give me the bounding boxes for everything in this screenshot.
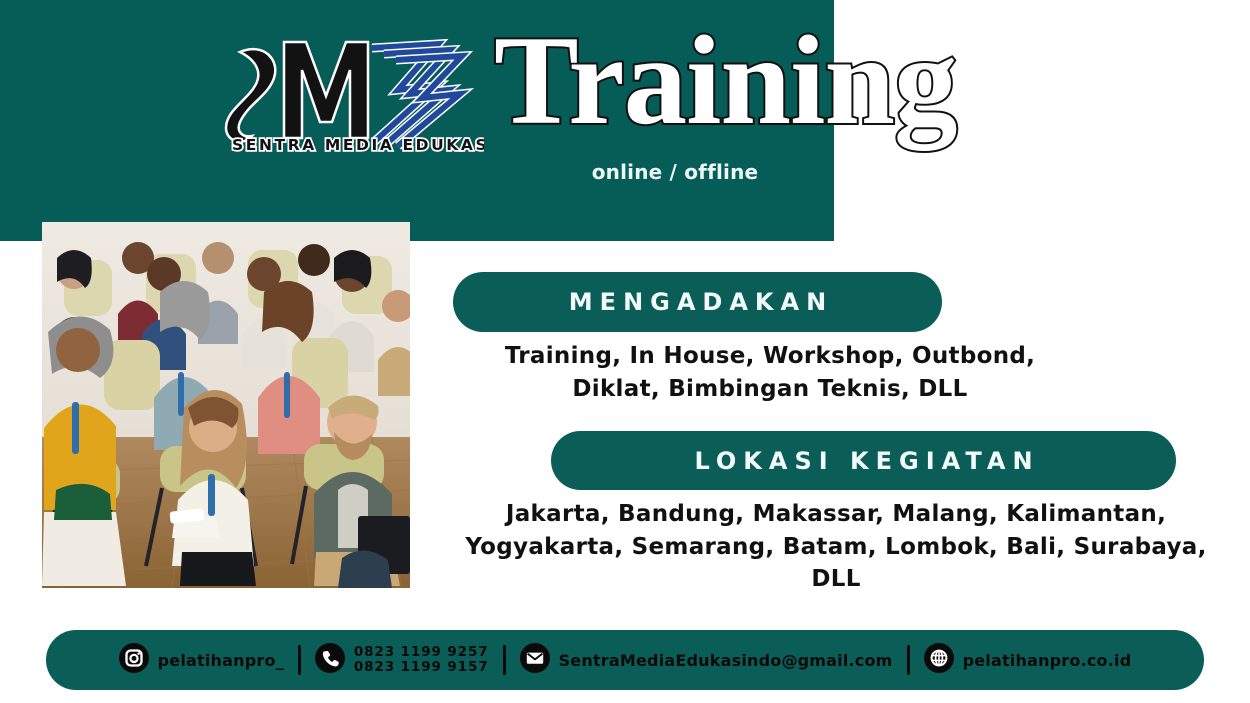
page-subtitle: online / offline [494,160,856,184]
website-url: pelatihanpro.co.id [963,651,1132,670]
section-heading-label: LOKASI KEGIATAN [687,447,1039,475]
contact-instagram[interactable]: pelatihanpro_ [119,643,284,677]
brand-logo: SENTRA MEDIA EDUKASINDO [222,30,484,155]
globe-icon [924,643,954,677]
seminar-audience-photo [42,222,410,588]
envelope-icon [520,643,550,677]
footer-contact-bar: pelatihanpro_ 0823 1199 9257 0823 1199 9… [46,630,1204,690]
contact-website[interactable]: pelatihanpro.co.id [924,643,1132,677]
section-body-line: Diklat, Bimbingan Teknis, DLL [420,373,1120,406]
footer-divider [298,645,301,675]
logo-tagline: SENTRA MEDIA EDUKASINDO [232,136,484,154]
section-body-line: Training, In House, Workshop, Outbond, [420,340,1120,373]
section-body-mengadakan: Training, In House, Workshop, Outbond, D… [420,340,1120,405]
section-heading-label: MENGADAKAN [562,288,833,316]
section-heading-mengadakan: MENGADAKAN [453,272,942,332]
contact-email[interactable]: SentraMediaEdukasindo@gmail.com [520,643,893,677]
section-body-line: Jakarta, Bandung, Makassar, Malang, Kali… [440,498,1232,531]
phone-number-1: 0823 1199 9257 [354,645,489,660]
contact-phone[interactable]: 0823 1199 9257 0823 1199 9157 [315,643,489,677]
phone-numbers: 0823 1199 9257 0823 1199 9157 [354,645,489,675]
email-address: SentraMediaEdukasindo@gmail.com [559,651,893,670]
phone-icon [315,643,345,677]
section-body-lokasi-kegiatan: Jakarta, Bandung, Makassar, Malang, Kali… [440,498,1232,596]
logo-book-icon [372,44,462,146]
footer-divider [907,645,910,675]
instagram-icon [119,643,149,677]
section-heading-lokasi-kegiatan: LOKASI KEGIATAN [551,431,1176,490]
phone-number-2: 0823 1199 9157 [354,660,489,675]
section-body-line: Yogyakarta, Semarang, Batam, Lombok, Bal… [440,531,1232,596]
logo-m-glyph [284,42,368,138]
page-title: Training [494,18,956,145]
instagram-handle: pelatihanpro_ [158,651,284,670]
footer-divider [503,645,506,675]
logo-s-glyph [226,49,275,141]
